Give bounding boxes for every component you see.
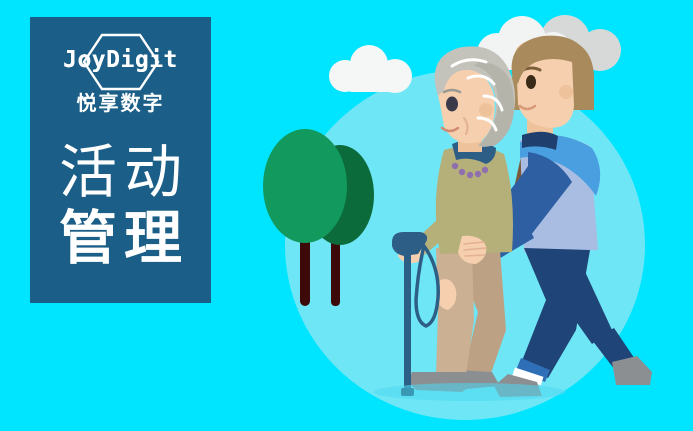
page-title-line-2: 管理: [52, 206, 189, 272]
brand-wordmark: JoyDigit: [63, 49, 178, 72]
brand-subtitle: 悦享数字: [77, 94, 165, 114]
woman-ear: [479, 103, 493, 117]
ground-shadow: [374, 383, 566, 401]
page-title: 活动 管理: [52, 140, 189, 272]
brand-logo: JoyDigit: [46, 34, 196, 86]
man-ear: [559, 85, 573, 99]
woman-eye: [446, 97, 458, 112]
poster-canvas: JoyDigit 悦享数字 活动 管理: [0, 0, 693, 431]
man-eye: [526, 75, 536, 89]
title-banner: JoyDigit 悦享数字 活动 管理: [30, 17, 211, 303]
cane-shaft: [404, 246, 411, 394]
woman-leg-front: [436, 248, 474, 374]
page-title-line-1: 活动: [52, 140, 189, 206]
